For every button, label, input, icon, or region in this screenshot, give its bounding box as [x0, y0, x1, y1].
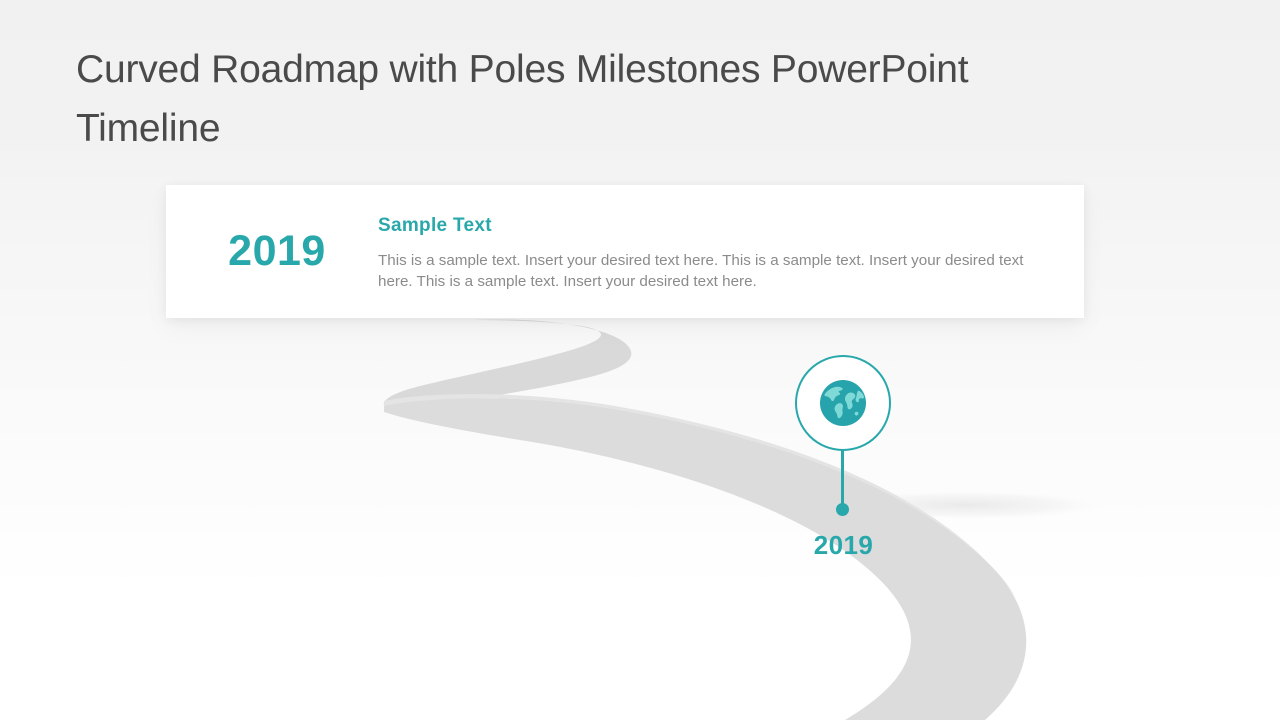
pin-pole-stem [841, 450, 844, 508]
pin-marker[interactable]: 2019 [795, 355, 892, 570]
road-highlight-edge [384, 394, 1017, 600]
globe-icon [819, 379, 867, 427]
page-title: Curved Roadmap with Poles Milestones Pow… [76, 40, 1116, 158]
road-near-segment [384, 398, 1026, 720]
slide-canvas: Curved Roadmap with Poles Milestones Pow… [0, 0, 1280, 720]
milestone-card[interactable]: 2019 Sample Text This is a sample text. … [166, 185, 1084, 318]
pin-year-label: 2019 [766, 530, 921, 561]
pin-base-dot [836, 503, 849, 516]
milestone-body-text: This is a sample text. Insert your desir… [378, 250, 1026, 292]
milestone-year-column: 2019 [166, 230, 378, 273]
road-far-segment [384, 319, 632, 411]
milestone-year: 2019 [228, 230, 326, 273]
milestone-text-column: Sample Text This is a sample text. Inser… [378, 211, 1084, 292]
milestone-heading: Sample Text [378, 215, 1026, 237]
